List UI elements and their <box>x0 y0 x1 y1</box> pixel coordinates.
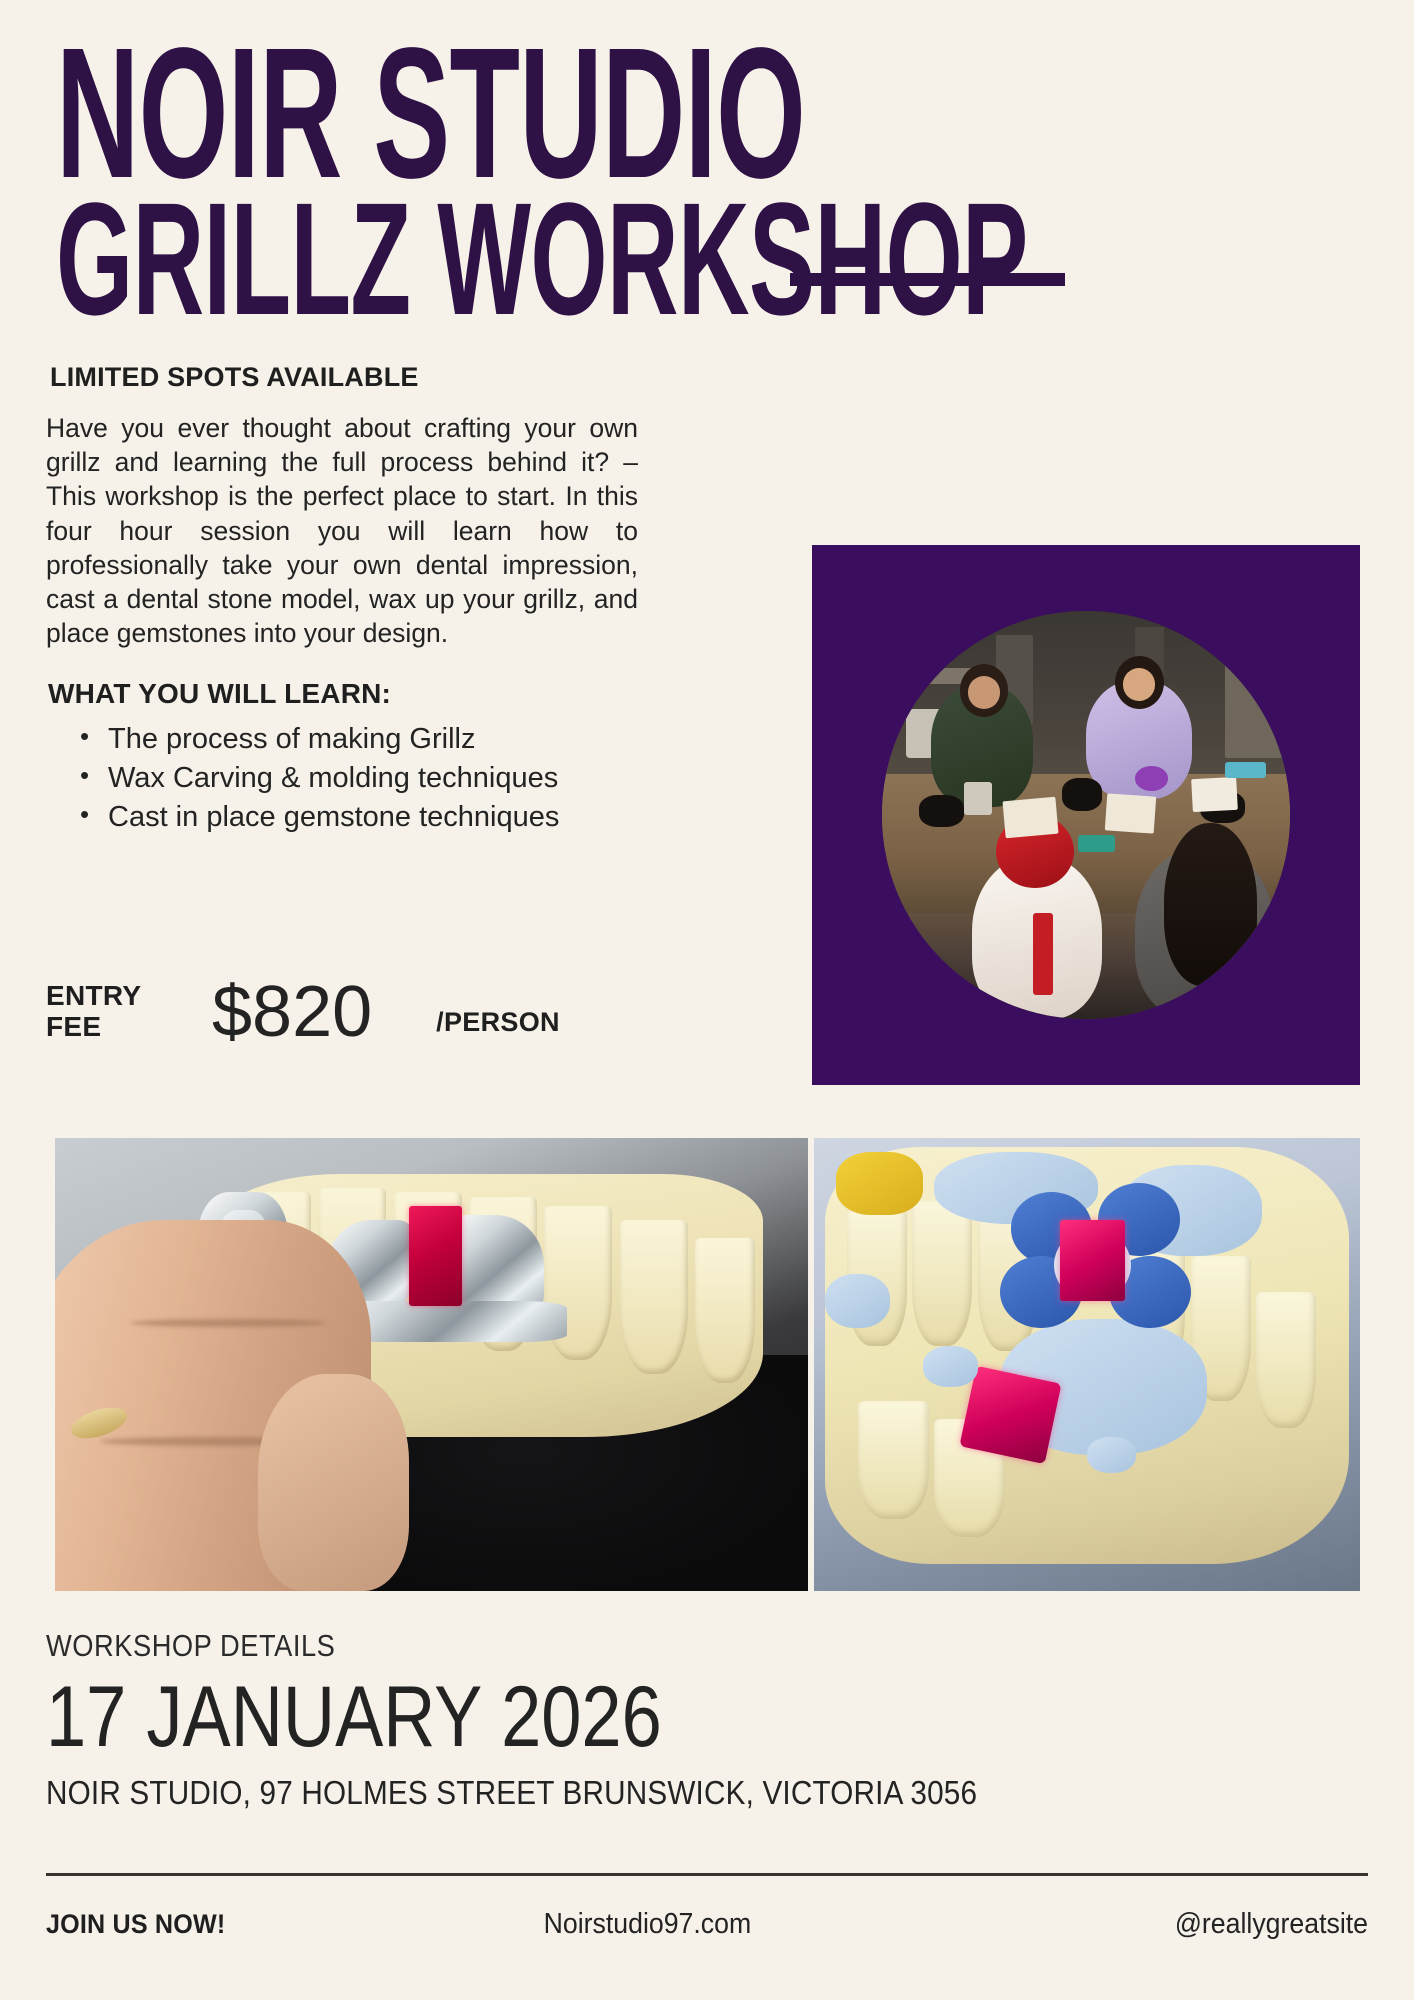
pink-gemstone <box>959 1365 1061 1463</box>
price-unit-per-person: /PERSON <box>436 1007 560 1048</box>
photo-table-paper <box>1191 777 1238 812</box>
poster-title-block: NOIR STUDIO GRILLZ WORKSHOP <box>56 38 1366 319</box>
entry-fee-row: ENTRY FEE $820 /PERSON <box>46 976 560 1048</box>
entry-fee-label-line2: FEE <box>46 1011 101 1042</box>
footer-divider <box>46 1873 1368 1876</box>
blue-wax-drip <box>1087 1437 1136 1473</box>
workshop-photo-circle <box>882 611 1290 1019</box>
photo-red-strap <box>1033 913 1053 995</box>
workshop-photo-panel <box>812 545 1360 1085</box>
what-you-will-learn-heading: WHAT YOU WILL LEARN: <box>48 678 638 710</box>
photo-table-cup <box>964 782 993 815</box>
cast-tooth <box>695 1238 755 1383</box>
photo-person-head <box>1164 823 1258 986</box>
blue-wax-drip <box>923 1346 978 1387</box>
photo-table-paper <box>1105 793 1156 833</box>
thumb-shape <box>258 1374 409 1591</box>
gallery-photo-right <box>814 1138 1360 1591</box>
title-underline-rule <box>790 273 1065 286</box>
title-row-secondary: GRILLZ WORKSHOP <box>56 193 1366 319</box>
red-gemstone <box>409 1206 462 1306</box>
blue-wax-blob <box>825 1274 891 1328</box>
photo-table-tool <box>1078 835 1115 851</box>
social-handle[interactable]: @reallygreatsite <box>998 1908 1368 1941</box>
join-us-now-label: JOIN US NOW! <box>46 1909 492 1940</box>
cast-tooth <box>858 1401 929 1519</box>
website-link[interactable]: Noirstudio97.com <box>544 1908 949 1941</box>
photo-gloved-hand <box>1062 778 1103 811</box>
learn-list: The process of making Grillz Wax Carving… <box>46 720 638 837</box>
photo-table-paper <box>1003 796 1059 837</box>
entry-fee-label: ENTRY FEE <box>46 981 166 1043</box>
photo-gloved-hand <box>919 795 964 828</box>
photo-table-tool <box>1135 766 1168 790</box>
workshop-details-block: WORKSHOP DETAILS 17 JANUARY 2026 NOIR ST… <box>46 1628 1368 1812</box>
photo-person-face <box>968 676 1001 709</box>
gallery-photo-left <box>55 1138 808 1591</box>
yellow-wax-blob <box>836 1152 923 1215</box>
photo-table-tool <box>1225 762 1266 778</box>
workshop-details-label: WORKSHOP DETAILS <box>46 1628 1209 1664</box>
list-item: The process of making Grillz <box>108 720 638 759</box>
pink-gemstone <box>1060 1220 1126 1302</box>
list-item: Cast in place gemstone techniques <box>108 798 638 837</box>
poster-canvas: NOIR STUDIO GRILLZ WORKSHOP LIMITED SPOT… <box>0 0 1414 2000</box>
footer-bar: JOIN US NOW! Noirstudio97.com @reallygre… <box>46 1908 1368 1941</box>
workshop-date: 17 JANUARY 2026 <box>46 1674 1156 1760</box>
workshop-address: NOIR STUDIO, 97 HOLMES STREET BRUNSWICK,… <box>46 1774 1236 1812</box>
intro-paragraph: Have you ever thought about crafting you… <box>46 411 638 650</box>
photo-gallery <box>55 1138 1360 1591</box>
title-line-grillz-workshop: GRILLZ WORKSHOP <box>56 193 1110 324</box>
left-content-column: LIMITED SPOTS AVAILABLE Have you ever th… <box>46 362 638 838</box>
price-amount: $820 <box>212 976 372 1048</box>
entry-fee-label-line1: ENTRY <box>46 980 141 1011</box>
photo-shelf <box>1225 660 1278 758</box>
list-item: Wax Carving & molding techniques <box>108 759 638 798</box>
cast-tooth <box>912 1201 972 1346</box>
cast-tooth <box>620 1220 688 1374</box>
cast-tooth <box>1256 1292 1316 1428</box>
photo-person-face <box>1123 668 1156 701</box>
limited-spots-heading: LIMITED SPOTS AVAILABLE <box>50 362 638 393</box>
